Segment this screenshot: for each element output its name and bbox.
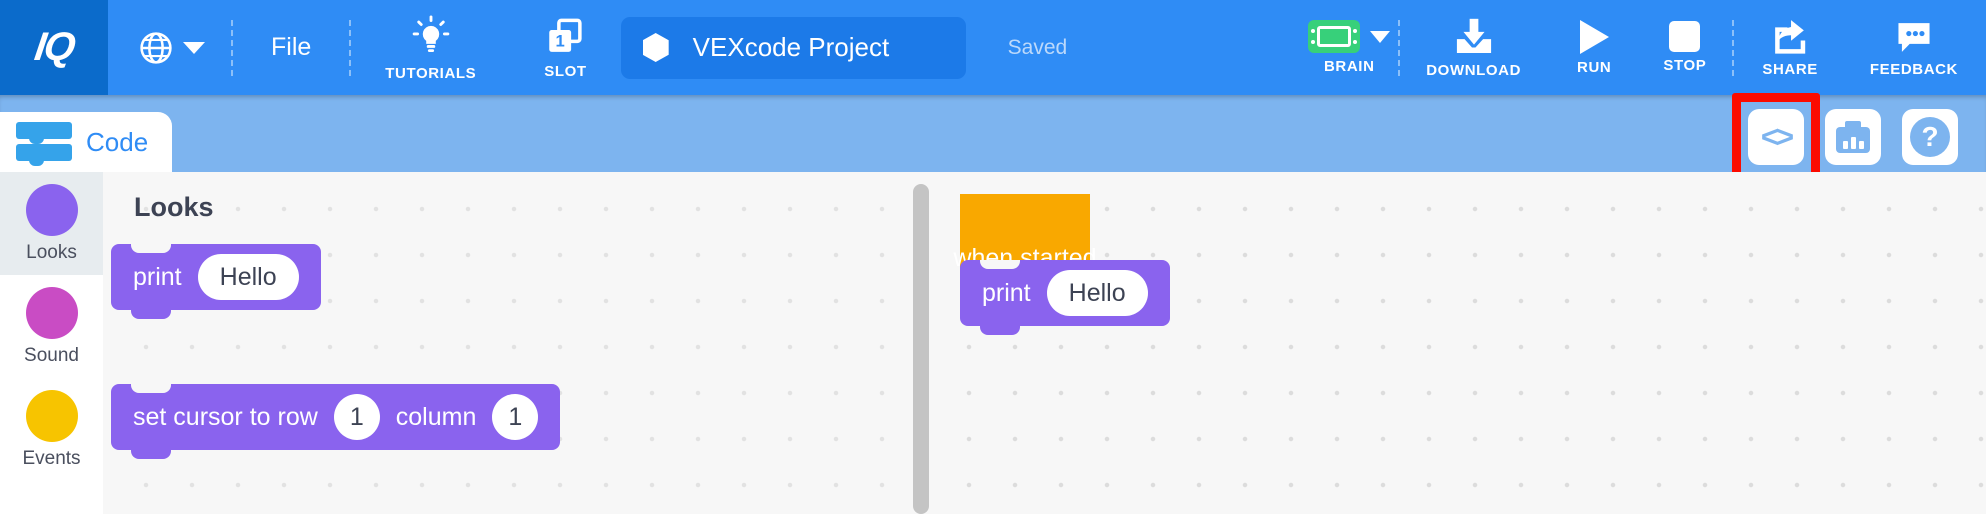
run-button[interactable]: RUN xyxy=(1551,20,1637,76)
column-value-field[interactable]: 1 xyxy=(492,394,538,440)
category-color-dot xyxy=(26,390,78,442)
vex-iq-logo[interactable]: IQ xyxy=(0,0,108,95)
play-icon xyxy=(1580,20,1609,54)
share-button[interactable]: SHARE xyxy=(1734,18,1844,78)
block-notch xyxy=(980,260,1020,269)
download-icon xyxy=(1452,17,1496,57)
top-toolbar: IQ File xyxy=(0,0,1986,95)
palette-print-block[interactable]: print Hello xyxy=(111,244,321,310)
category-label: Sound xyxy=(24,345,79,367)
stop-button[interactable]: STOP xyxy=(1637,21,1732,74)
palette-title: Looks xyxy=(134,192,214,223)
help-button[interactable]: ? xyxy=(1902,109,1958,165)
code-tab-label: Code xyxy=(86,127,148,158)
slot-icon: 1 xyxy=(544,16,586,58)
sub-header-buttons: <> ? xyxy=(1748,109,1958,165)
category-events[interactable]: Events xyxy=(0,378,103,481)
download-label: DOWNLOAD xyxy=(1426,62,1521,79)
save-status: Saved xyxy=(1008,36,1068,60)
chevron-down-icon xyxy=(183,42,205,54)
globe-icon xyxy=(138,30,174,66)
code-brackets-icon: <> xyxy=(1761,119,1791,155)
language-selector[interactable] xyxy=(108,30,231,66)
print-text-field[interactable]: Hello xyxy=(1047,270,1148,316)
print-text-field[interactable]: Hello xyxy=(198,254,299,300)
hexagon-icon xyxy=(643,33,669,62)
project-name-text: VEXcode Project xyxy=(693,32,890,63)
file-menu-button[interactable]: File xyxy=(233,33,349,62)
main-area: Looks Sound Events Looks print Hello xyxy=(0,172,1986,514)
row-value-field[interactable]: 1 xyxy=(334,394,380,440)
block-label-row: set cursor to row xyxy=(133,403,318,432)
brain-device-icon xyxy=(1308,20,1360,53)
category-sound[interactable]: Sound xyxy=(0,275,103,378)
block-label: print xyxy=(133,263,182,292)
block-palette[interactable]: Looks print Hello set cursor to row 1 co… xyxy=(103,172,913,514)
run-label: RUN xyxy=(1577,59,1611,76)
block-label: print xyxy=(982,279,1031,308)
logo-text: IQ xyxy=(32,25,77,70)
feedback-label: FEEDBACK xyxy=(1870,61,1958,78)
block-label-column: column xyxy=(396,403,477,432)
brain-label: BRAIN xyxy=(1324,58,1375,75)
category-looks[interactable]: Looks xyxy=(0,172,103,275)
download-button[interactable]: DOWNLOAD xyxy=(1400,17,1551,79)
block-tab xyxy=(980,326,1020,335)
category-label: Events xyxy=(22,448,80,470)
monitor-button[interactable] xyxy=(1825,109,1881,165)
sub-header: Code <> ? xyxy=(0,95,1986,172)
category-color-dot xyxy=(26,287,78,339)
block-notch xyxy=(131,244,171,253)
palette-set-cursor-block[interactable]: set cursor to row 1 column 1 xyxy=(111,384,560,450)
tutorials-button[interactable]: TUTORIALS xyxy=(351,14,510,82)
stop-icon xyxy=(1669,21,1700,52)
palette-scrollbar[interactable] xyxy=(913,184,929,514)
feedback-button[interactable]: FEEDBACK xyxy=(1844,18,1986,78)
slot-selector[interactable]: 1 SLOT xyxy=(510,16,616,80)
block-tab xyxy=(131,450,171,459)
slot-label: SLOT xyxy=(544,63,586,80)
block-workspace[interactable]: when started print Hello xyxy=(936,172,1986,514)
workspace-print-block[interactable]: print Hello xyxy=(960,260,1170,326)
project-name-field[interactable]: VEXcode Project xyxy=(621,17,966,79)
monitor-icon xyxy=(1836,121,1870,153)
share-label: SHARE xyxy=(1762,61,1818,78)
category-label: Looks xyxy=(26,242,77,264)
category-color-dot xyxy=(26,184,78,236)
code-view-wrapper: <> xyxy=(1748,109,1804,165)
lightbulb-icon xyxy=(408,14,454,60)
share-icon xyxy=(1769,18,1811,56)
blocks-icon xyxy=(16,122,72,162)
slot-number: 1 xyxy=(556,31,565,50)
tutorials-label: TUTORIALS xyxy=(385,65,476,82)
block-tab xyxy=(131,310,171,319)
category-sidebar: Looks Sound Events xyxy=(0,172,103,514)
code-view-button[interactable]: <> xyxy=(1748,109,1804,165)
speech-bubble-icon xyxy=(1893,18,1935,56)
block-notch xyxy=(131,384,171,393)
brain-selector[interactable]: BRAIN xyxy=(1308,20,1398,75)
tab-code[interactable]: Code xyxy=(0,112,172,172)
question-mark-icon: ? xyxy=(1910,117,1950,157)
stop-label: STOP xyxy=(1663,57,1706,74)
vexcode-iq-app: IQ File xyxy=(0,0,1986,514)
chevron-down-icon xyxy=(1370,31,1390,43)
